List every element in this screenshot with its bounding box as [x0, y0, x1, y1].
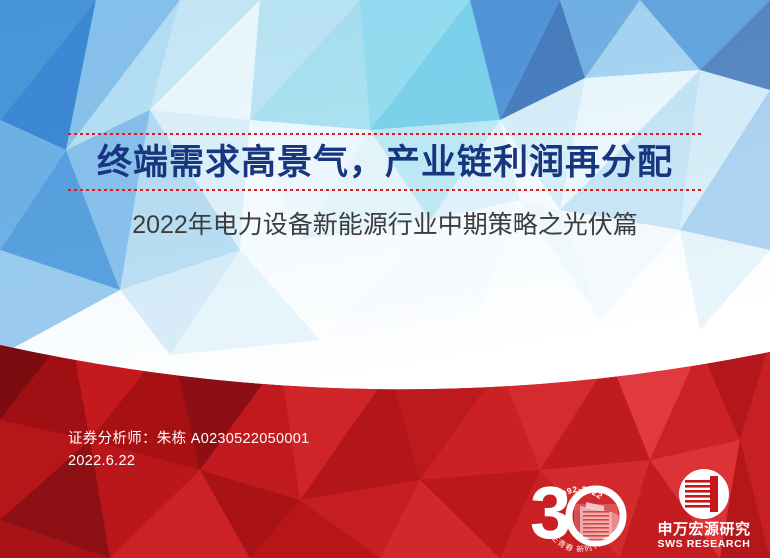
anniversary-30-icon: 3: [524, 466, 636, 552]
analyst-name-license: 证券分析师：朱栋 A0230522050001: [68, 428, 309, 450]
divider-dotted-bottom: [68, 189, 702, 191]
company-name-en: SWS RESEARCH: [658, 538, 751, 550]
presentation-cover-slide: 终端需求高景气，产业链利润再分配 2022年电力设备新能源行业中期策略之光伏篇 …: [0, 0, 770, 558]
logo-area: 3: [524, 466, 756, 552]
sws-research-logo: 申万宏源研究 SWS RESEARCH: [652, 466, 756, 552]
page-subtitle: 2022年电力设备新能源行业中期策略之光伏篇: [0, 208, 770, 242]
divider-dotted-top: [68, 133, 702, 135]
report-date: 2022.6.22: [68, 450, 309, 472]
anniversary-30-logo: 3: [524, 466, 636, 552]
analyst-credit-block: 证券分析师：朱栋 A0230522050001 2022.6.22: [68, 428, 309, 472]
page-title: 终端需求高景气，产业链利润再分配: [0, 140, 770, 186]
company-name-cn: 申万宏源研究: [657, 520, 750, 538]
sws-logo-icon: 申万宏源研究 SWS RESEARCH: [652, 466, 756, 552]
